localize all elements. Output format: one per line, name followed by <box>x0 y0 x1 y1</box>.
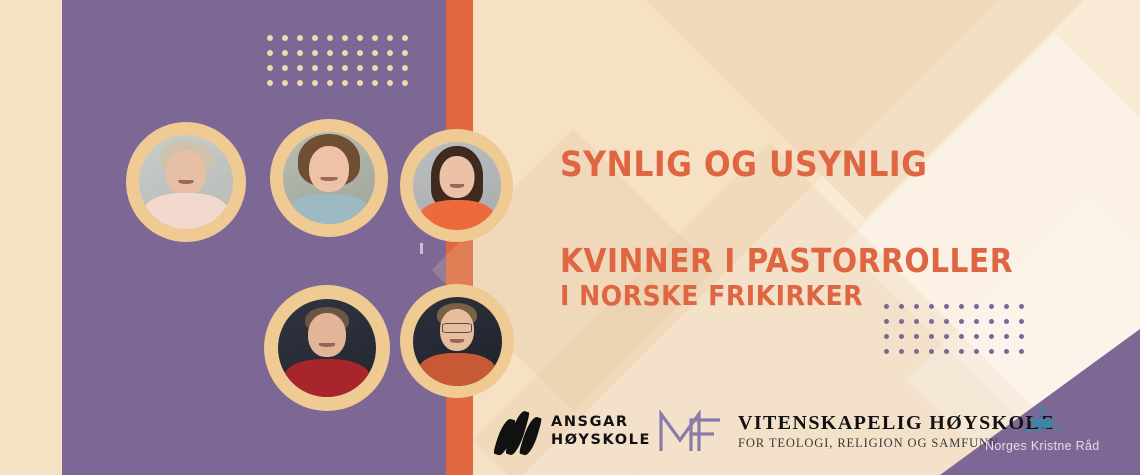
headline-block: SYNLIG OG USYNLIG KVINNER I PASTORROLLER… <box>560 148 1080 311</box>
dot <box>282 80 288 86</box>
boat-with-cross-icon <box>1019 406 1065 436</box>
portrait-image-5 <box>413 297 502 386</box>
dot <box>327 35 333 41</box>
dot <box>372 50 378 56</box>
dot <box>989 349 994 354</box>
portrait-photo-5 <box>413 297 502 386</box>
dot <box>357 50 363 56</box>
dot <box>929 334 934 339</box>
dot <box>342 50 348 56</box>
dot <box>282 65 288 71</box>
dot <box>402 35 408 41</box>
dot <box>402 50 408 56</box>
dot <box>1004 319 1009 324</box>
portrait-image-4 <box>278 299 376 397</box>
dot <box>944 349 949 354</box>
dot <box>899 319 904 324</box>
portrait-man-2 <box>400 284 514 398</box>
dot <box>267 80 273 86</box>
dot <box>372 65 378 71</box>
dot <box>989 334 994 339</box>
campaign-banner: SYNLIG OG USYNLIG KVINNER I PASTORROLLER… <box>0 0 1140 475</box>
dot <box>914 319 919 324</box>
dot <box>402 65 408 71</box>
portrait-image-3 <box>413 142 501 230</box>
portrait-photo-2 <box>283 132 375 224</box>
ansgar-logo-line-2: HØYSKOLE <box>551 432 651 450</box>
ansgar-logo-line-1: ANSGAR <box>551 414 651 432</box>
dot <box>267 35 273 41</box>
headline-main: SYNLIG OG USYNLIG <box>560 148 1080 184</box>
dot <box>929 349 934 354</box>
portrait-image-1 <box>139 135 233 229</box>
dot <box>372 35 378 41</box>
dot <box>884 334 889 339</box>
dot <box>387 50 393 56</box>
dot <box>974 334 979 339</box>
dot <box>899 349 904 354</box>
dot <box>372 80 378 86</box>
dot-grid-right <box>884 304 1034 364</box>
dot <box>267 50 273 56</box>
mf-monogram-icon <box>658 410 726 454</box>
dot <box>357 35 363 41</box>
dot <box>342 80 348 86</box>
dot <box>959 319 964 324</box>
dot <box>327 65 333 71</box>
headline-subtitle-2: I NORSKE FRIKIRKER <box>560 282 1080 311</box>
dot <box>327 80 333 86</box>
dot <box>312 80 318 86</box>
decorative-tick-mark <box>420 243 423 254</box>
dot <box>387 80 393 86</box>
dot <box>357 65 363 71</box>
dot <box>959 334 964 339</box>
portrait-woman-3 <box>400 129 513 242</box>
dot <box>1019 319 1024 324</box>
dot <box>387 35 393 41</box>
dot <box>312 35 318 41</box>
portrait-man-1 <box>264 285 390 411</box>
portrait-woman-1 <box>126 122 246 242</box>
dot <box>342 35 348 41</box>
portrait-photo-1 <box>139 135 233 229</box>
dot <box>884 349 889 354</box>
partner-logo-row: ANSGAR HØYSKOLE VITENSKAPELIG HØYSKOLE F… <box>0 398 1140 475</box>
nkr-logo-label: Norges Kristne Råd <box>985 439 1099 453</box>
dot <box>944 334 949 339</box>
headline-subtitle-1: KVINNER I PASTORROLLER <box>560 244 1080 278</box>
dot <box>884 319 889 324</box>
flame-icon <box>498 408 542 456</box>
dot <box>297 50 303 56</box>
portrait-photo-4 <box>278 299 376 397</box>
dot <box>327 50 333 56</box>
dot <box>914 334 919 339</box>
dot <box>282 35 288 41</box>
dot <box>402 80 408 86</box>
dot <box>1004 334 1009 339</box>
portrait-woman-2 <box>270 119 388 237</box>
dot <box>342 65 348 71</box>
norges-kristne-rad-logo: Norges Kristne Råd <box>985 406 1099 453</box>
dot <box>312 65 318 71</box>
ansgar-hoyskole-logo: ANSGAR HØYSKOLE <box>498 408 651 456</box>
dot <box>297 80 303 86</box>
dot <box>267 65 273 71</box>
dot <box>989 319 994 324</box>
dot <box>282 50 288 56</box>
dot <box>944 319 949 324</box>
dot <box>914 349 919 354</box>
dot <box>1004 349 1009 354</box>
dot <box>1019 349 1024 354</box>
dot <box>929 319 934 324</box>
dot <box>297 35 303 41</box>
dot <box>974 319 979 324</box>
dot <box>357 80 363 86</box>
dot <box>312 50 318 56</box>
dot <box>297 65 303 71</box>
dot-grid-top-left <box>267 35 417 95</box>
dot <box>387 65 393 71</box>
dot <box>1019 334 1024 339</box>
dot <box>959 349 964 354</box>
portrait-image-2 <box>283 132 375 224</box>
dot <box>899 334 904 339</box>
portrait-photo-3 <box>413 142 501 230</box>
ansgar-logo-text: ANSGAR HØYSKOLE <box>551 414 651 449</box>
dot <box>974 349 979 354</box>
